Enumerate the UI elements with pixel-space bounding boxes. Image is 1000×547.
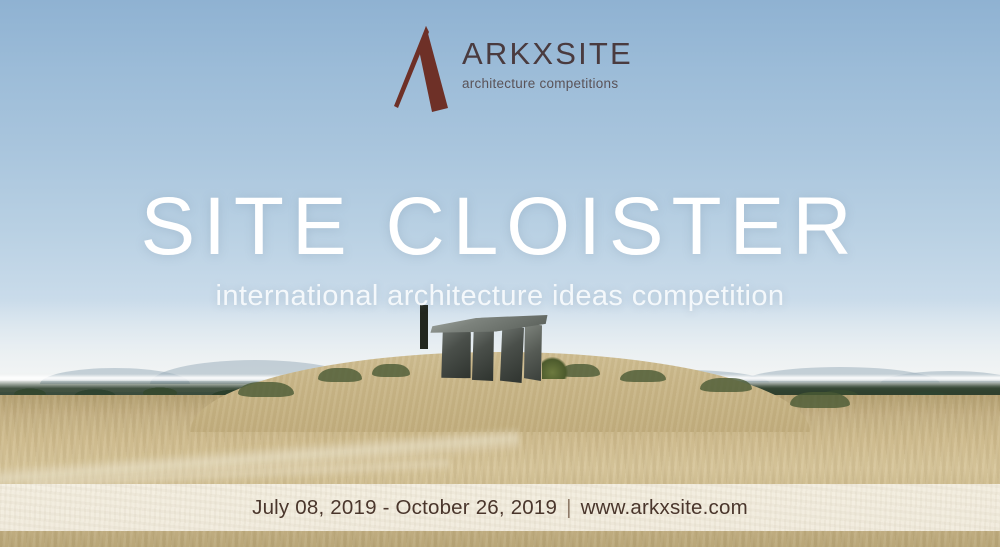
scrub-bush xyxy=(620,370,666,382)
dolmen-upright-stone xyxy=(472,327,494,381)
dolmen-monument xyxy=(420,305,560,385)
brand-name: ARKXSITE xyxy=(462,36,633,71)
page-subtitle: international architecture ideas competi… xyxy=(0,282,1000,311)
dolmen-upright-stone xyxy=(524,323,542,381)
page-title: SITE CLOISTER xyxy=(0,186,1000,268)
brand-tagline: architecture competitions xyxy=(462,76,633,91)
scrub-bush xyxy=(700,378,752,392)
poster-canvas: ARKXSITE architecture competitions SITE … xyxy=(0,0,1000,547)
scrub-bush xyxy=(372,364,410,377)
hero-text-block: SITE CLOISTER international architecture… xyxy=(0,186,1000,311)
competition-dates: July 08, 2019 - October 26, 2019 xyxy=(252,496,557,520)
scrub-bush xyxy=(238,382,294,397)
footer-content: July 08, 2019 - October 26, 2019 | www.a… xyxy=(252,496,748,520)
dolmen-upright-stone xyxy=(437,328,474,380)
scrub-bush xyxy=(790,392,850,408)
footer-bar: July 08, 2019 - October 26, 2019 | www.a… xyxy=(0,484,1000,531)
footer-separator: | xyxy=(566,496,572,520)
arkxsite-a-mark-icon xyxy=(386,22,456,112)
website-link[interactable]: www.arkxsite.com xyxy=(581,496,748,520)
arkxsite-logo[interactable]: ARKXSITE architecture competitions xyxy=(386,22,632,114)
dolmen-side-bush xyxy=(542,357,568,379)
dolmen-upright-stone xyxy=(500,325,524,383)
logo-wordmark: ARKXSITE architecture competitions xyxy=(462,22,633,91)
scrub-bush xyxy=(318,368,362,382)
